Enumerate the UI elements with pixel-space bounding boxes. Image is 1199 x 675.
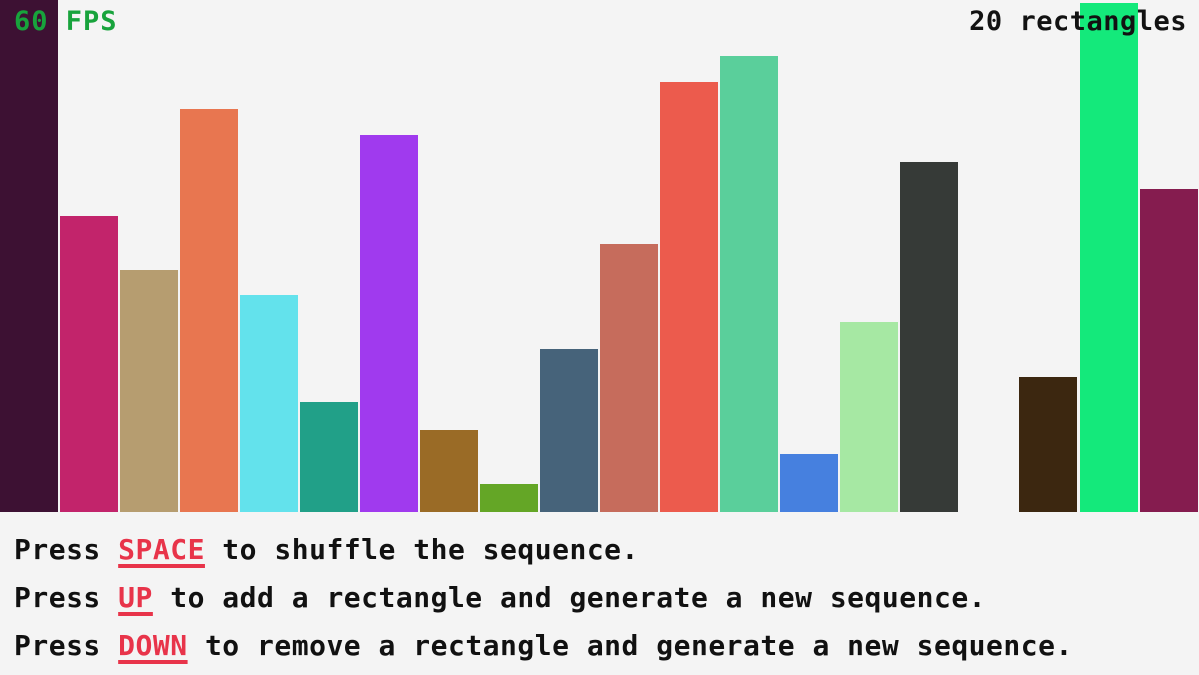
instruction-suffix: to add a rectangle and generate a new se…	[153, 581, 986, 614]
bar-rectangle	[1080, 3, 1138, 512]
key-hint-up[interactable]: UP	[118, 581, 153, 614]
bar-rectangle	[60, 216, 118, 512]
application-window: 60 FPS 20 rectangles Press SPACE to shuf…	[0, 0, 1199, 675]
bar-rectangle	[780, 454, 838, 512]
bar-rectangle	[480, 484, 538, 512]
bar-rectangle	[180, 109, 238, 512]
instructions-panel: Press SPACE to shuffle the sequence.Pres…	[0, 512, 1199, 675]
instruction-suffix: to remove a rectangle and generate a new…	[188, 629, 1073, 662]
bar-rectangle	[420, 430, 478, 512]
instruction-suffix: to shuffle the sequence.	[205, 533, 639, 566]
key-hint-space[interactable]: SPACE	[118, 533, 205, 566]
key-hint-down[interactable]: DOWN	[118, 629, 187, 662]
bar-rectangle	[900, 162, 958, 512]
bar-rectangle	[360, 135, 418, 512]
instruction-line-3: Press DOWN to remove a rectangle and gen…	[14, 622, 1199, 670]
bar-rectangle	[300, 402, 358, 512]
bar-rectangle	[1019, 377, 1077, 512]
bar-rectangle	[0, 0, 58, 512]
rectangle-count-label: 20 rectangles	[969, 8, 1187, 35]
bar-rectangle	[840, 322, 898, 512]
bar-rectangle	[240, 295, 298, 512]
bar-rectangle	[720, 56, 778, 512]
bar-rectangle	[660, 82, 718, 512]
bar-rectangle	[1140, 189, 1198, 512]
fps-counter: 60 FPS	[14, 8, 118, 35]
instruction-prefix: Press	[14, 581, 118, 614]
bar-rectangle	[600, 244, 658, 512]
bar-rectangle	[120, 270, 178, 512]
instruction-prefix: Press	[14, 533, 118, 566]
instruction-line-1: Press SPACE to shuffle the sequence.	[14, 526, 1199, 574]
bar-rectangle	[540, 349, 598, 512]
instruction-line-2: Press UP to add a rectangle and generate…	[14, 574, 1199, 622]
bar-chart-canvas[interactable]	[0, 0, 1199, 512]
instruction-prefix: Press	[14, 629, 118, 662]
